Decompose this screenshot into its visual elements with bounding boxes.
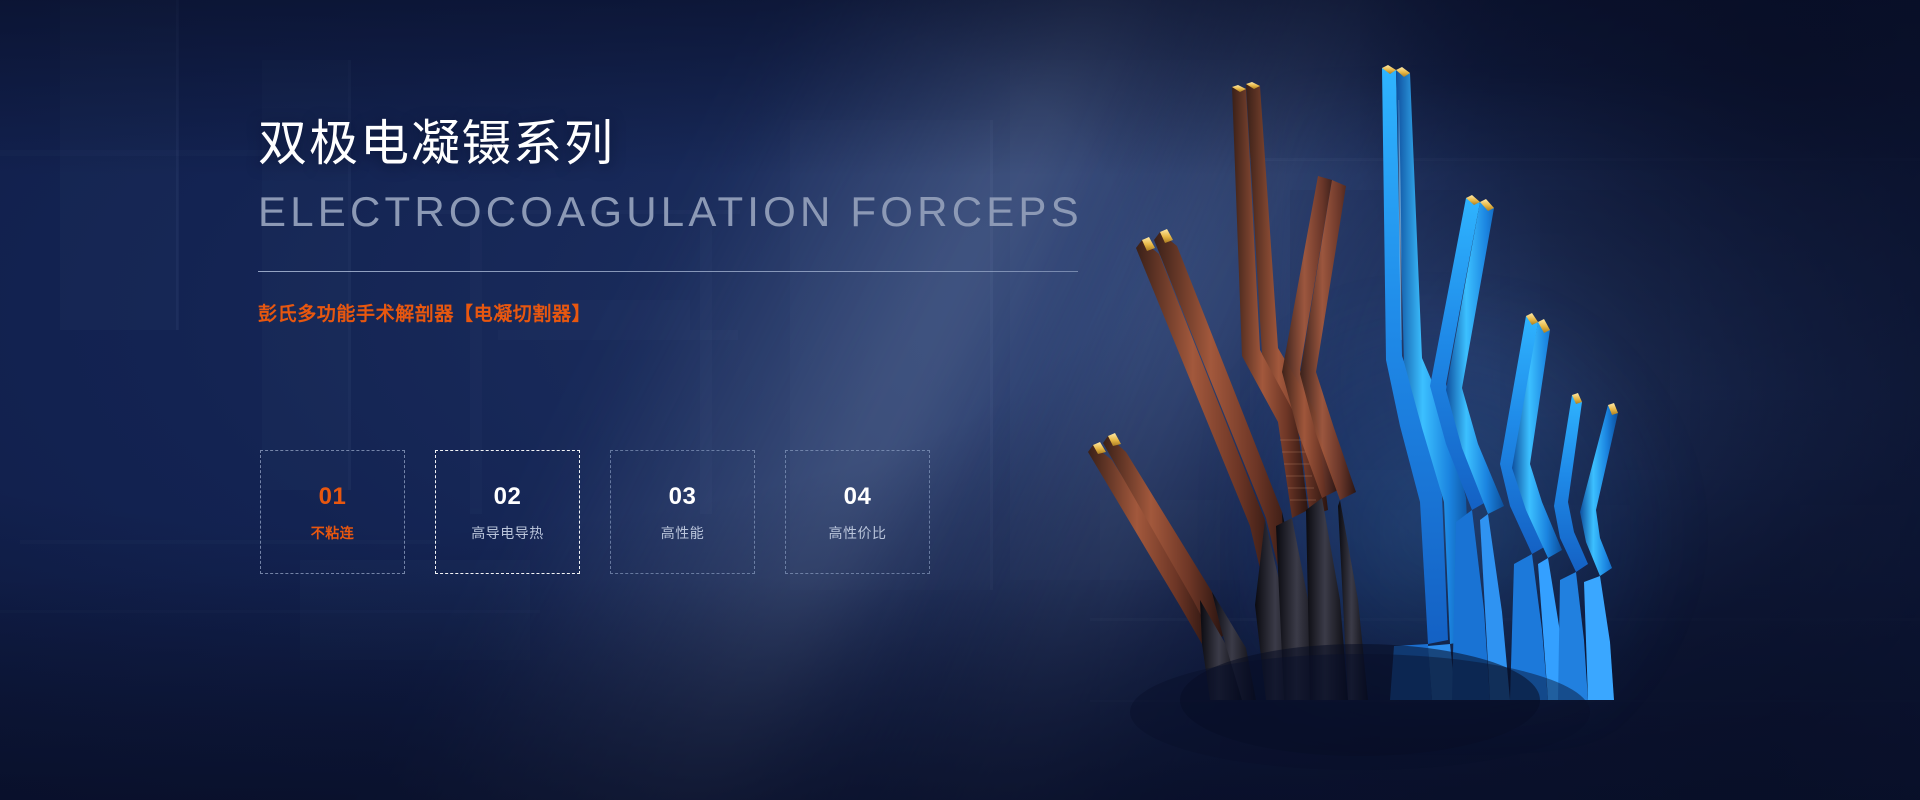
feature-box-04[interactable]: 04 高性价比 xyxy=(785,450,930,574)
forceps-illustration xyxy=(1060,40,1660,720)
hero-copy: 双极电凝镊系列 ELECTROCOAGULATION FORCEPS 彭氏多功能… xyxy=(258,120,1088,324)
feature-box-01[interactable]: 01 不粘连 xyxy=(260,450,405,574)
feature-label: 高性能 xyxy=(661,526,705,540)
feature-label: 高性价比 xyxy=(829,526,887,540)
feature-label: 高导电导热 xyxy=(471,526,544,540)
feature-label: 不粘连 xyxy=(311,526,355,540)
product-tagline: 彭氏多功能手术解剖器【电凝切割器】 xyxy=(258,305,1088,324)
feature-box-02[interactable]: 02 高导电导热 xyxy=(435,450,580,574)
feature-box-03[interactable]: 03 高性能 xyxy=(610,450,755,574)
page-title: 双极电凝镊系列 xyxy=(258,120,1088,169)
feature-number: 03 xyxy=(669,485,697,509)
page-subtitle: ELECTROCOAGULATION FORCEPS xyxy=(258,191,1088,233)
hero-banner: 双极电凝镊系列 ELECTROCOAGULATION FORCEPS 彭氏多功能… xyxy=(0,0,1920,800)
feature-list: 01 不粘连 02 高导电导热 03 高性能 04 高性价比 xyxy=(260,450,930,574)
divider xyxy=(258,271,1078,272)
feature-number: 01 xyxy=(319,485,347,509)
feature-number: 02 xyxy=(494,485,522,509)
feature-number: 04 xyxy=(844,485,872,509)
